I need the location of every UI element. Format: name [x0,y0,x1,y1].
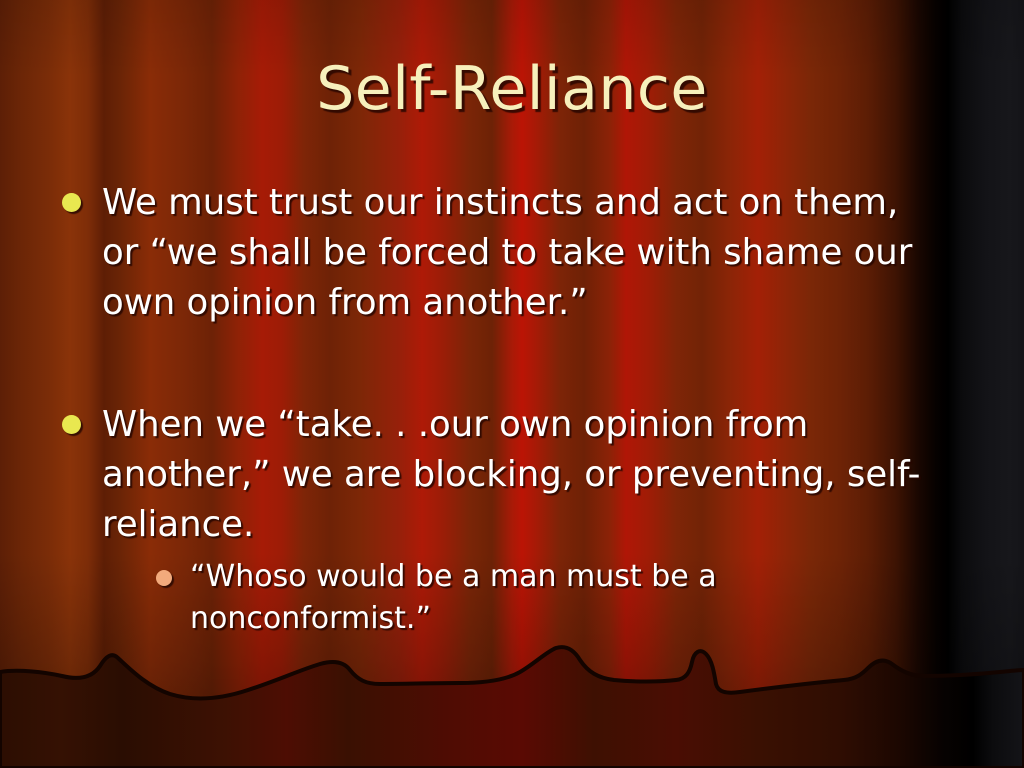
slide-body: We must trust our instincts and act on t… [54,178,954,640]
sub-bullet-list: “Whoso would be a man must be a nonconfo… [102,556,954,640]
bullet-item: When we “take. . .our own opinion from a… [54,400,954,640]
sub-bullet-item: “Whoso would be a man must be a nonconfo… [150,556,954,640]
bullet-item: We must trust our instincts and act on t… [54,178,954,328]
bullet-text: When we “take. . .our own opinion from a… [102,400,932,550]
decorative-wavy-horizon [0,628,1024,768]
disc-bullet-icon [156,570,172,586]
disc-bullet-icon [62,193,81,212]
presentation-slide: Self-Reliance We must trust our instinct… [0,0,1024,768]
slide-title: Self-Reliance [0,58,1024,121]
sub-bullet-text: “Whoso would be a man must be a nonconfo… [190,556,890,640]
bullet-text: We must trust our instincts and act on t… [102,178,932,328]
disc-bullet-icon [62,415,81,434]
